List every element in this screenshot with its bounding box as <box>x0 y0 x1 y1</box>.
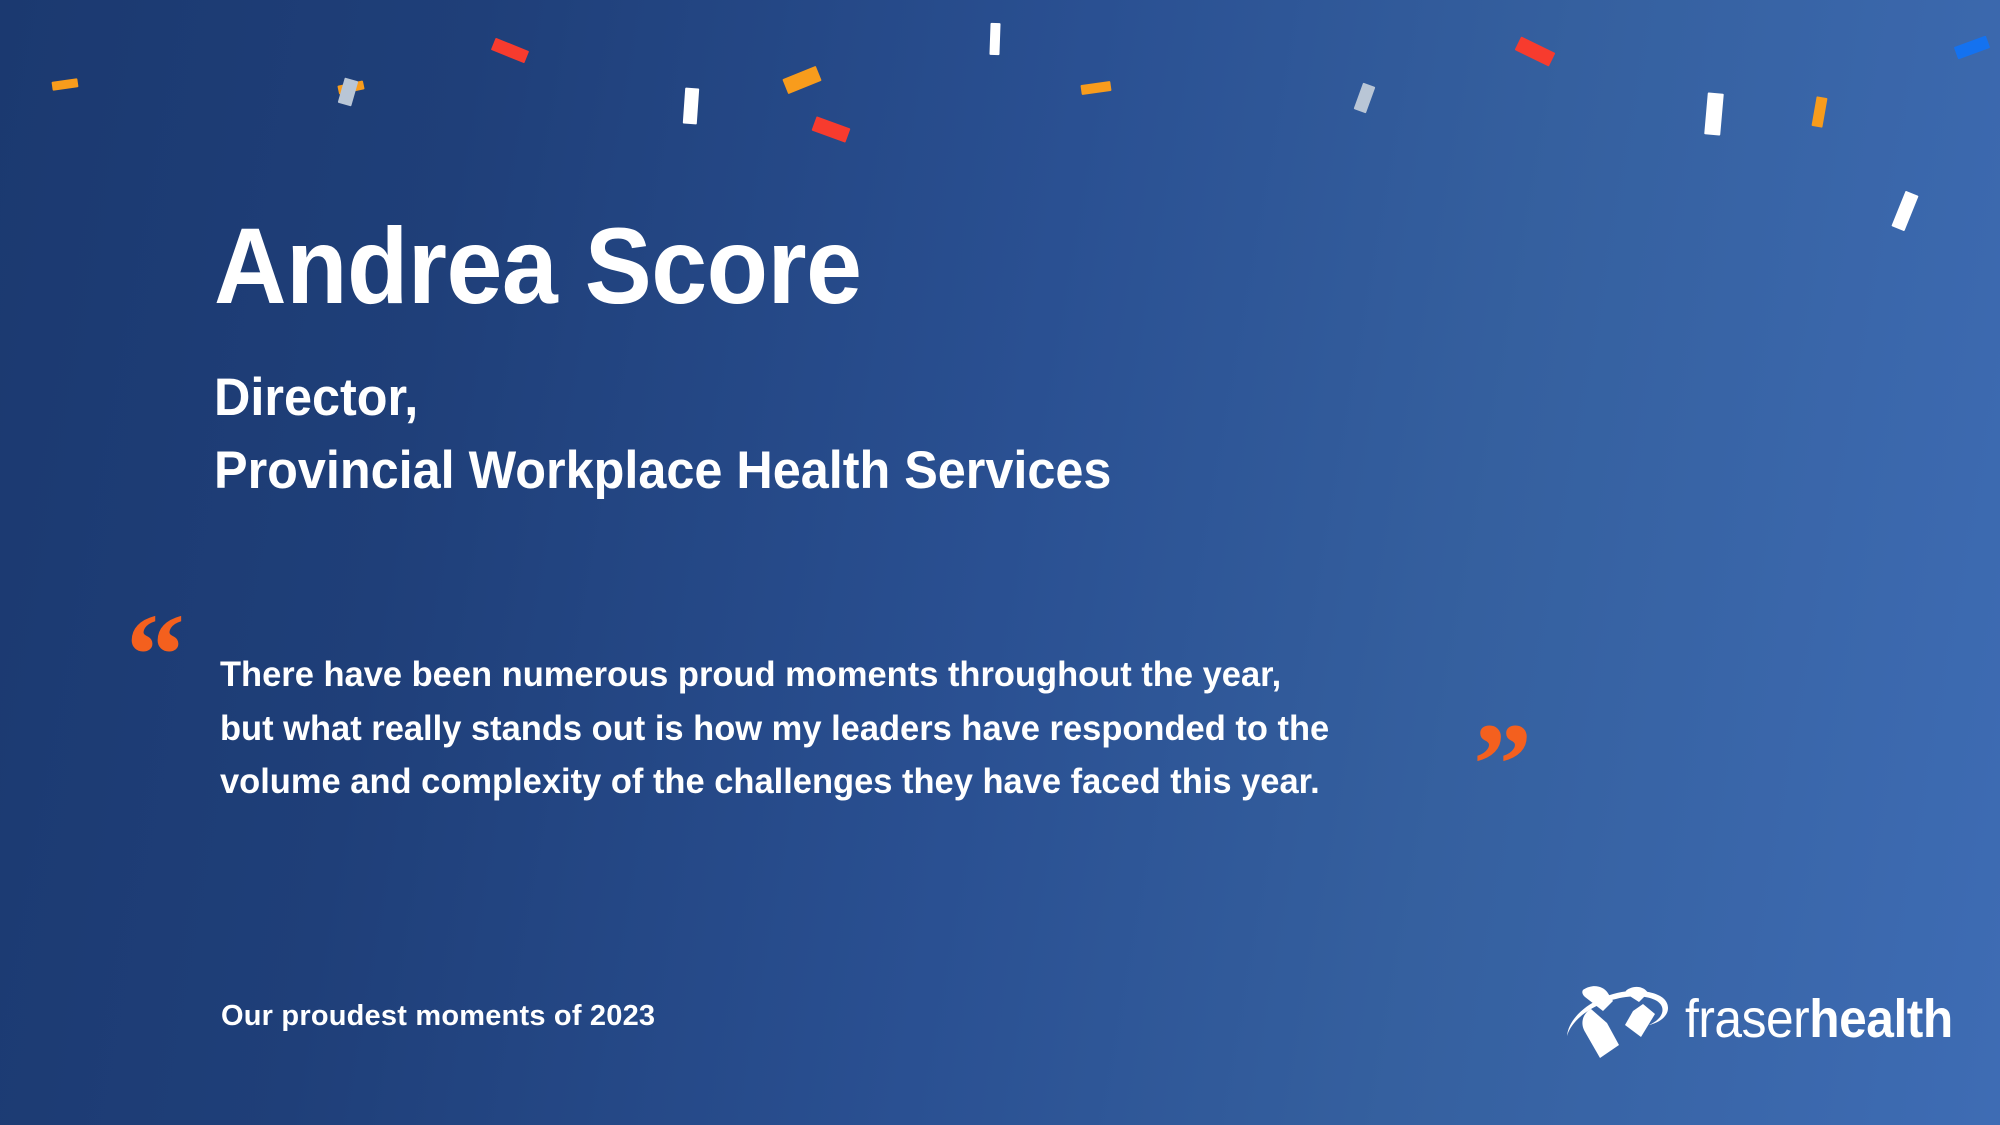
confetti-piece <box>1080 81 1111 95</box>
close-quote-icon: ” <box>1473 706 1532 824</box>
speaker-identity-block: Andrea Score Director, Provincial Workpl… <box>214 212 1514 507</box>
confetti-piece <box>1954 36 1990 60</box>
brand-wordmark: fraserhealth <box>1685 992 1953 1046</box>
confetti-piece <box>1811 96 1827 127</box>
confetti-piece <box>1891 191 1918 231</box>
confetti-piece <box>491 38 529 64</box>
confetti-piece <box>782 66 821 94</box>
confetti-piece <box>1704 92 1724 135</box>
confetti-piece <box>337 80 364 94</box>
confetti-decoration <box>0 0 2000 1125</box>
brand-word-health: health <box>1809 989 1953 1049</box>
speaker-role: Director, Provincial Workplace Health Se… <box>214 320 1449 507</box>
confetti-piece <box>52 78 79 91</box>
brand-word-fraser: fraser <box>1685 989 1809 1049</box>
open-quote-icon: “ <box>126 596 185 714</box>
fraser-health-heart-swoosh-icon <box>1563 977 1671 1061</box>
presentation-slide: Andrea Score Director, Provincial Workpl… <box>0 0 2000 1125</box>
confetti-piece <box>683 88 699 125</box>
confetti-piece <box>1515 36 1556 66</box>
confetti-piece <box>338 78 359 107</box>
page-title: Andrea Score <box>214 212 1423 320</box>
confetti-piece <box>1354 83 1376 114</box>
fraser-health-logo: fraserhealth <box>1563 971 1923 1066</box>
confetti-piece <box>812 116 851 142</box>
footer-caption: Our proudest moments of 2023 <box>221 1000 655 1033</box>
quote-text: There have been numerous proud moments t… <box>220 648 1329 809</box>
confetti-piece <box>989 23 1000 55</box>
